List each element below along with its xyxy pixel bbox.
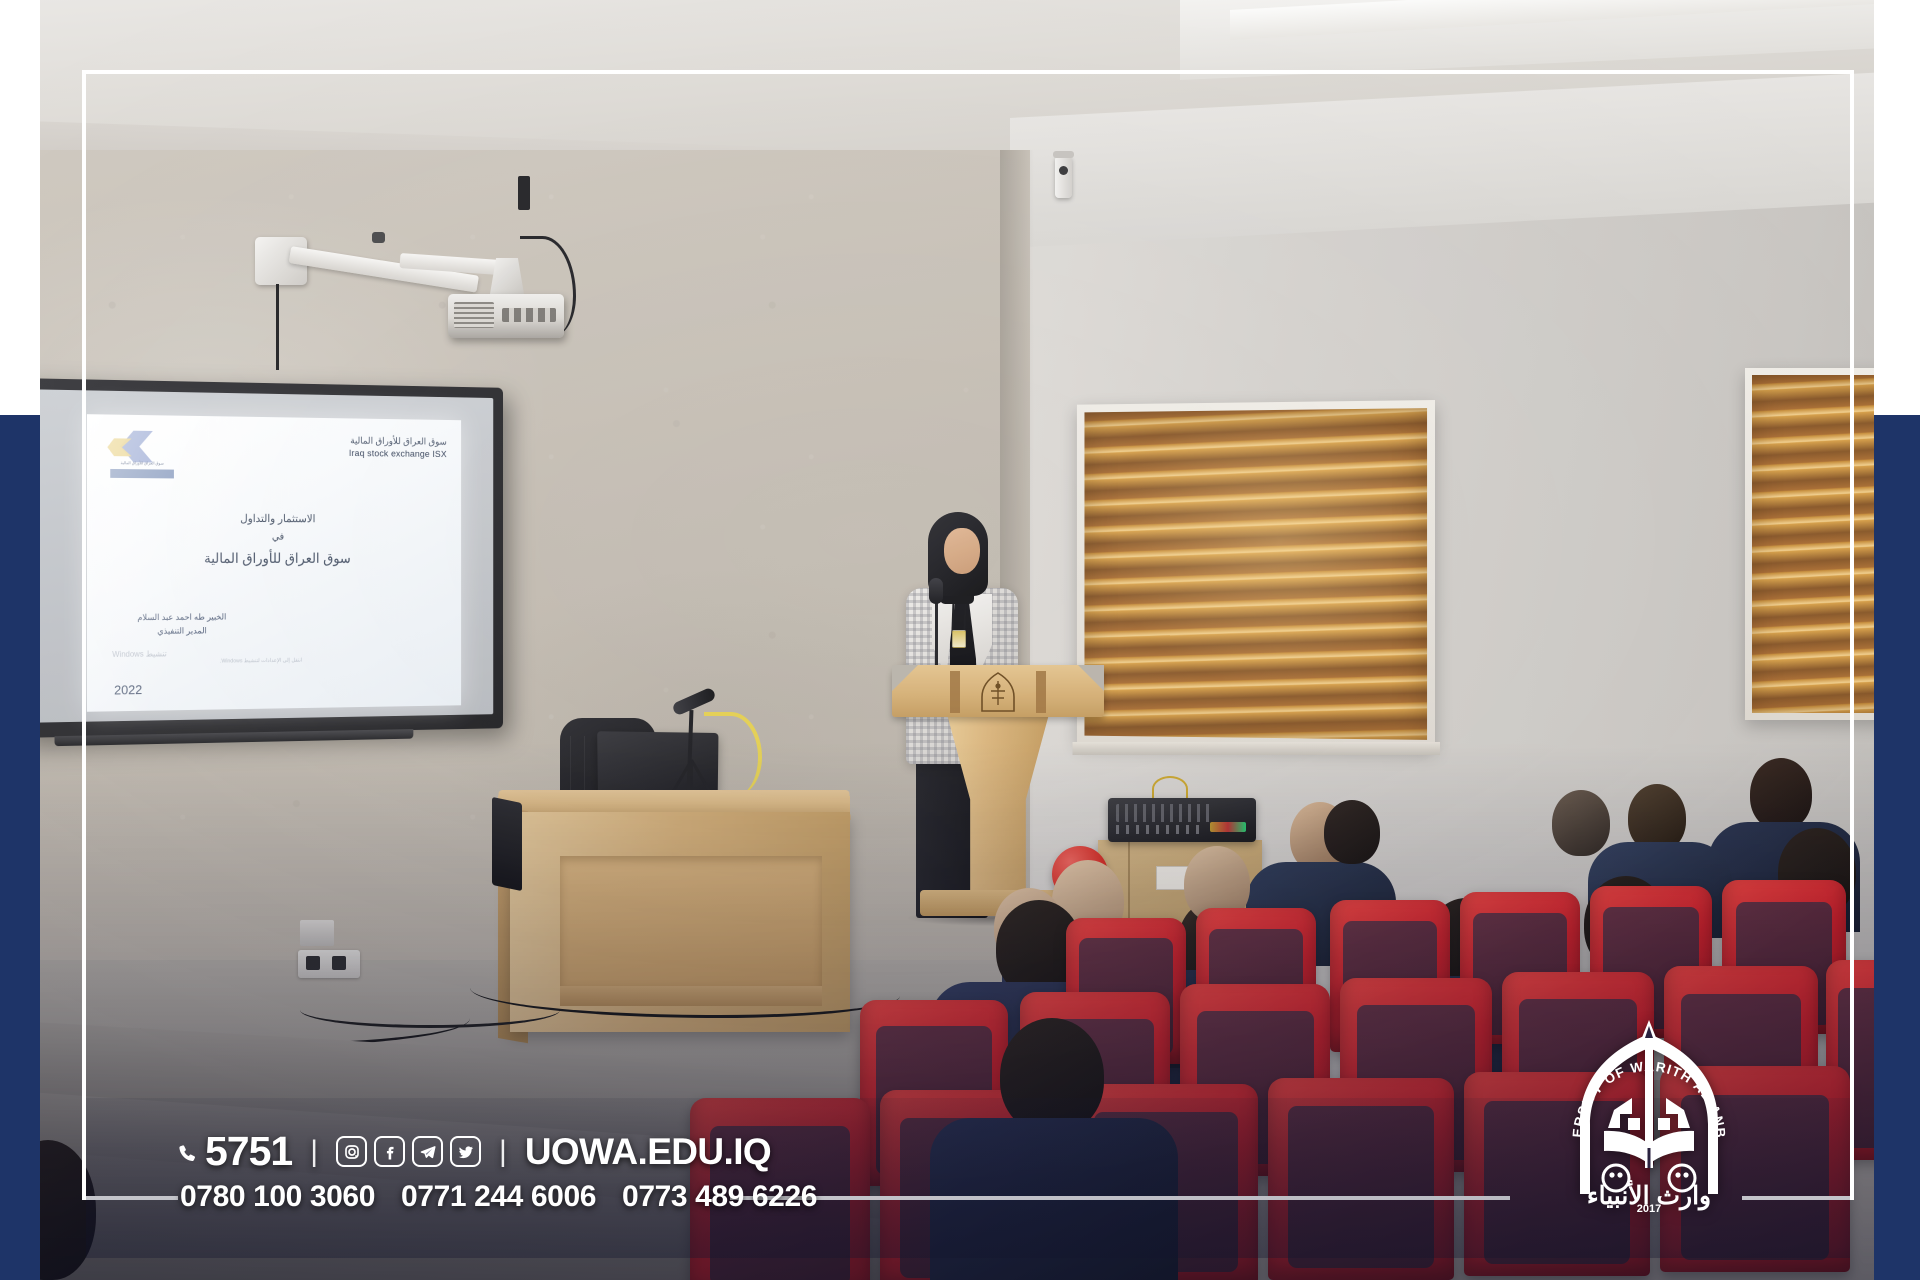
slide-author-name: الخبير طه احمد عبد السلام — [137, 610, 226, 625]
frame-line-left — [82, 70, 86, 1200]
slide-header: سوق العراق للأوراق المالية Iraq stock ex… — [349, 436, 447, 462]
audience-head-1 — [1750, 758, 1812, 830]
mixer-knobs — [1116, 804, 1212, 822]
footer-primary-row: 5751 | — [176, 1128, 817, 1175]
twitter-icon[interactable] — [450, 1136, 481, 1167]
frame-line-right — [1850, 70, 1854, 1200]
projector — [448, 294, 564, 338]
university-logo: UNIVERSITY OF WARITH AL-ANBIYAA وارث الأ… — [1558, 1018, 1740, 1214]
slide-title: الاستثمار والتداول في سوق العراق للأوراق… — [87, 509, 461, 570]
frame-line-bottom-center — [730, 1196, 1510, 1200]
margin-top-left — [0, 0, 40, 415]
mixer-indicator-leds — [1210, 822, 1246, 832]
projector-arm-knob — [372, 232, 385, 243]
brand-bar-right — [1874, 415, 1920, 1280]
slide-year: 2022 — [114, 682, 142, 697]
box-seam — [1128, 840, 1130, 928]
zebra-blinds-main — [1084, 408, 1427, 740]
interactive-whiteboard: سوق العراق للأوراق المالية سوق العراق لل… — [15, 378, 503, 738]
projector-ports — [502, 308, 556, 322]
podium-inlay-left — [950, 671, 960, 713]
isx-logo-bar — [110, 469, 174, 478]
footer-hotline-number: 5751 — [205, 1128, 292, 1175]
mixer-faders — [1116, 825, 1202, 834]
camera-base — [1053, 151, 1074, 158]
facebook-icon[interactable] — [374, 1136, 405, 1167]
footer-website[interactable]: UOWA.EDU.IQ — [525, 1131, 771, 1173]
footer-separator-1: | — [310, 1135, 318, 1169]
projector-vents — [454, 302, 494, 328]
audio-mixer — [1108, 798, 1256, 842]
window-sill — [1073, 742, 1440, 755]
slide-org-arabic: سوق العراق للأوراق المالية — [349, 436, 447, 450]
podium-microphone-head — [929, 578, 943, 604]
security-camera-icon — [1055, 156, 1072, 198]
whiteboard-surface: سوق العراق للأوراق المالية سوق العراق لل… — [26, 389, 493, 723]
frame-line-bottom-right — [1742, 1196, 1854, 1200]
podium-emblem-icon — [975, 671, 1021, 715]
screenshot-root: سوق العراق للأوراق المالية سوق العراق لل… — [0, 0, 1920, 1280]
footer-phone-numbers: 0780 100 3060 0771 244 6006 0773 489 622… — [176, 1180, 817, 1214]
slide-title-line-2: في — [87, 528, 461, 546]
slide-title-line-1: الاستثمار والتداول — [87, 509, 461, 529]
windows-activation-watermark: Windows تنشيط انتقل إلى الإعدادات لتنشيط… — [112, 647, 302, 668]
whiteboard-side-button — [518, 176, 530, 210]
isx-logo-icon: سوق العراق للأوراق المالية — [106, 426, 175, 478]
seat — [1268, 1078, 1454, 1280]
wall-cable — [276, 284, 279, 370]
slide-author: الخبير طه احمد عبد السلام المدير التنفيذ… — [137, 610, 226, 639]
footer-social-links — [336, 1136, 481, 1167]
margin-top-right — [1874, 0, 1920, 415]
window-main — [1077, 400, 1435, 748]
brand-bar-left — [0, 415, 40, 1280]
logo-founded-year: 2017 — [1637, 1203, 1661, 1214]
audience-head-front-1 — [1000, 1018, 1104, 1134]
footer-phone-1[interactable]: 0780 100 3060 — [180, 1180, 375, 1214]
wall-faceplate — [300, 920, 334, 946]
podium-inlay-right — [1036, 671, 1046, 713]
slide-org-english: Iraq stock exchange ISX — [349, 448, 447, 461]
telegram-icon[interactable] — [412, 1136, 443, 1167]
speaker-face — [944, 528, 980, 574]
slide-title-line-3: سوق العراق للأوراق المالية — [87, 546, 461, 570]
speaker-id-badge — [952, 630, 966, 648]
podium-lectern-top — [892, 665, 1104, 717]
wall-power-socket — [298, 950, 360, 978]
isx-logo-caption: سوق العراق للأوراق المالية — [112, 460, 172, 468]
camera-lens — [1059, 166, 1068, 175]
frame-line-bottom-left — [82, 1196, 178, 1200]
footer-contact-block: 5751 | — [176, 1128, 817, 1214]
audience-head-5 — [1324, 800, 1380, 864]
footer-phone-2[interactable]: 0771 244 6006 — [401, 1180, 596, 1214]
slide-author-role: المدير التنفيذي — [137, 624, 226, 639]
instagram-icon[interactable] — [336, 1136, 367, 1167]
floor-speaker — [492, 797, 522, 891]
phone-handset-icon — [176, 1128, 200, 1175]
frame-line-top — [82, 70, 1854, 74]
footer-phone-3[interactable]: 0773 489 6226 — [622, 1180, 817, 1214]
footer-separator-2: | — [499, 1135, 507, 1169]
presentation-slide: سوق العراق للأوراق المالية سوق العراق لل… — [87, 414, 461, 712]
audience-head-3 — [1552, 790, 1610, 856]
footer-hotline[interactable]: 5751 — [176, 1128, 292, 1175]
